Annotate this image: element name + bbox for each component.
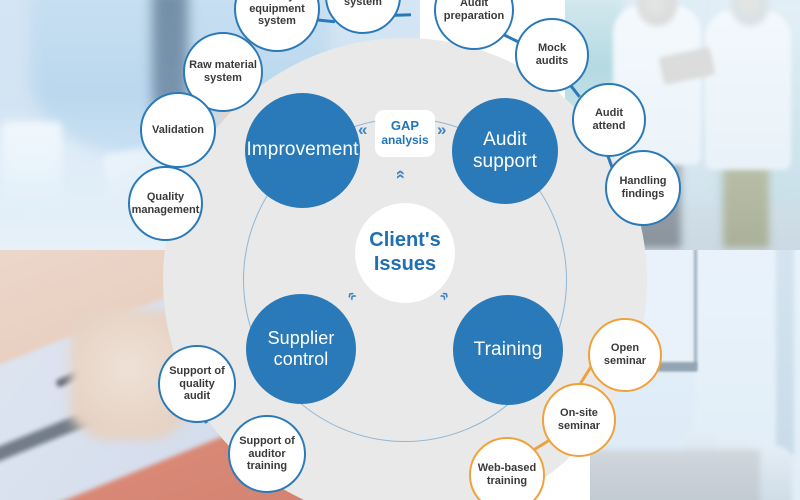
satellite-label-line3: training — [247, 460, 287, 472]
hub-audit-support-label-line1: Audit — [483, 129, 527, 150]
satellite-label-line2: system — [344, 0, 382, 8]
satellite-label-line2: preparation — [444, 10, 505, 22]
satellite-label-line1: Support of — [169, 365, 225, 377]
satellite-label-line2: equipment — [249, 3, 305, 15]
satellite-label-line1: Mock — [538, 42, 566, 54]
satellite-label-line2: attend — [593, 120, 626, 132]
satellite-label-line2: seminar — [604, 355, 646, 367]
satellite-label-line1: Validation — [152, 124, 204, 137]
satellite-audit-attend[interactable]: Audit attend — [572, 83, 646, 157]
center-label-line2: Issues — [374, 253, 436, 275]
hub-audit-support-label-line2: support — [473, 151, 537, 172]
satellite-label-line2: system — [204, 72, 242, 84]
satellite-label-line1: Audit — [595, 107, 623, 119]
satellite-label-line2: audits — [536, 55, 568, 67]
satellite-label-line2: training — [487, 475, 527, 487]
satellite-label-line1: Support of — [239, 435, 295, 447]
satellite-open-seminar[interactable]: Open seminar — [588, 318, 662, 392]
chevron-left-to-improvement-icon: « — [358, 121, 367, 138]
hub-supplier-control[interactable]: Supplier control — [246, 294, 356, 404]
satellite-quality-management[interactable]: Quality management — [128, 166, 203, 241]
hub-training[interactable]: Training — [453, 295, 563, 405]
hub-audit-support[interactable]: Audit support — [452, 98, 558, 204]
satellite-label-line2: seminar — [558, 420, 600, 432]
hub-training-label: Training — [474, 339, 543, 361]
satellite-handling-findings[interactable]: Handling findings — [605, 150, 681, 226]
satellite-label-line1: On-site — [560, 407, 598, 419]
gap-analysis-line2: analysis — [381, 134, 428, 148]
gap-analysis-box[interactable]: GAP analysis — [375, 110, 435, 157]
hub-supplier-control-label-line1: Supplier — [268, 328, 335, 348]
satellite-label-line1: Open — [611, 342, 639, 354]
satellite-label-line1: Quality — [147, 191, 184, 203]
satellite-mock-audits[interactable]: Mock audits — [515, 18, 589, 92]
satellite-label-line2: management — [132, 204, 200, 216]
satellite-label-line2: auditor — [248, 448, 285, 460]
satellite-support-of-quality-audit[interactable]: Support of quality audit — [158, 345, 236, 423]
gap-analysis-line1: GAP — [391, 119, 419, 134]
satellite-label-line1: Facility/ — [257, 0, 298, 2]
hub-improvement-label: Improvement — [247, 139, 359, 161]
satellite-label-line1: Audit — [460, 0, 488, 9]
satellite-label-line1: Handling — [619, 175, 666, 187]
chevron-right-to-audit-icon: » — [437, 121, 446, 138]
satellite-label-line1: Web-based — [478, 462, 536, 474]
chevron-up-to-gap-icon: « — [393, 170, 410, 179]
satellite-label-line2: findings — [622, 188, 665, 200]
satellite-label-line1: Raw material — [189, 59, 257, 71]
diagram-canvas: Improvement Audit support Supplier contr… — [0, 0, 800, 500]
hub-improvement[interactable]: Improvement — [245, 93, 360, 208]
satellite-label-line3: system — [258, 15, 296, 27]
center-label-line1: Client's — [369, 229, 440, 251]
satellite-label-line2: quality — [179, 378, 214, 390]
hub-supplier-control-label-line2: control — [274, 349, 329, 369]
satellite-on-site-seminar[interactable]: On-site seminar — [542, 383, 616, 457]
satellite-support-of-auditor-training[interactable]: Support of auditor training — [228, 415, 306, 493]
satellite-label-line3: audit — [184, 390, 210, 402]
satellite-validation[interactable]: Validation — [140, 92, 216, 168]
